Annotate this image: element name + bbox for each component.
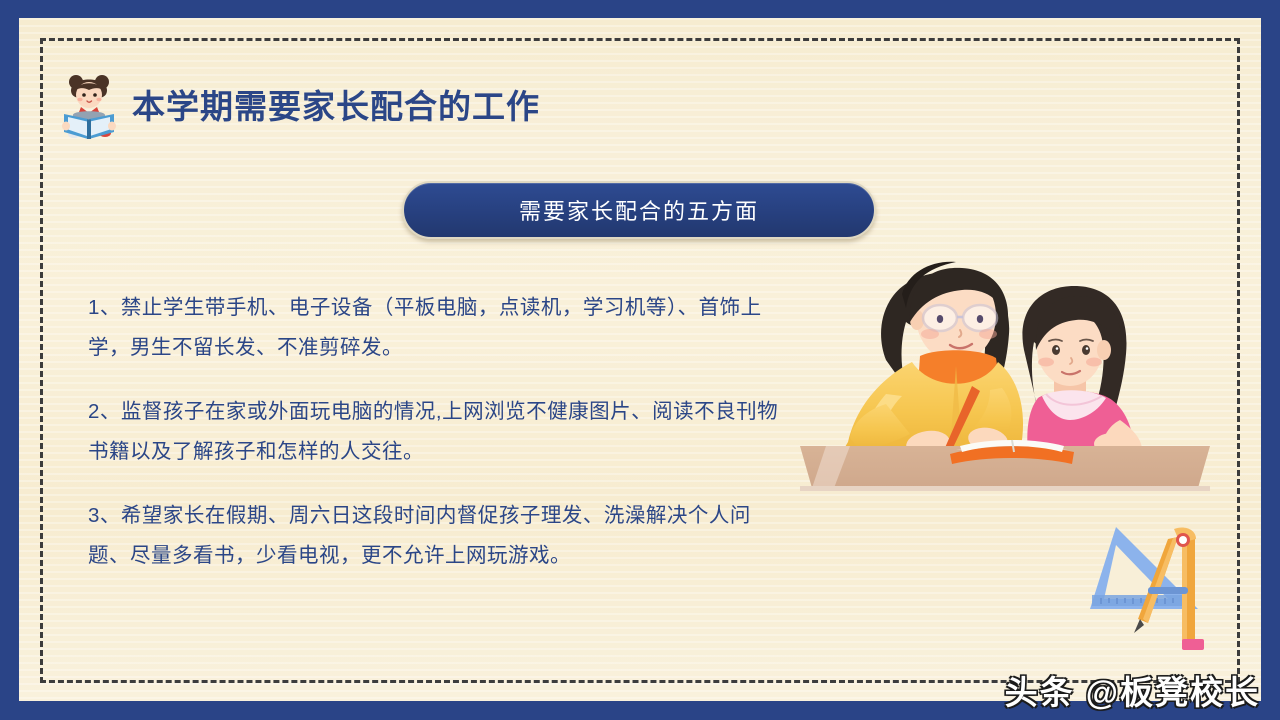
- content-paragraph-3: 3、希望家长在假期、周六日这段时间内督促孩子理发、洗澡解决个人问题、尽量多看书，…: [88, 496, 788, 576]
- triangle-ruler-and-compass-illustration: [1082, 515, 1242, 650]
- girl-reading-book-icon: [58, 70, 120, 142]
- mother-helping-daughter-homework-illustration: [790, 238, 1220, 528]
- slide-canvas: 本学期需要家长配合的工作 需要家长配合的五方面 1、禁止学生带手机、电子设备（平…: [0, 0, 1280, 720]
- watermark: 头条 @板凳校长: [1005, 666, 1260, 714]
- page-title: 本学期需要家长配合的工作: [132, 90, 540, 123]
- content-paragraph-list: 1、禁止学生带手机、电子设备（平板电脑，点读机，学习机等）、首饰上学，男生不留长…: [88, 288, 788, 576]
- slide-title-row: 本学期需要家长配合的工作: [58, 70, 540, 142]
- section-banner[interactable]: 需要家长配合的五方面: [402, 181, 876, 239]
- content-paragraph-2: 2、监督孩子在家或外面玩电脑的情况,上网浏览不健康图片、阅读不良刊物书籍以及了解…: [88, 392, 788, 472]
- content-paragraph-1: 1、禁止学生带手机、电子设备（平板电脑，点读机，学习机等）、首饰上学，男生不留长…: [88, 288, 788, 368]
- section-banner-label: 需要家长配合的五方面: [519, 194, 759, 226]
